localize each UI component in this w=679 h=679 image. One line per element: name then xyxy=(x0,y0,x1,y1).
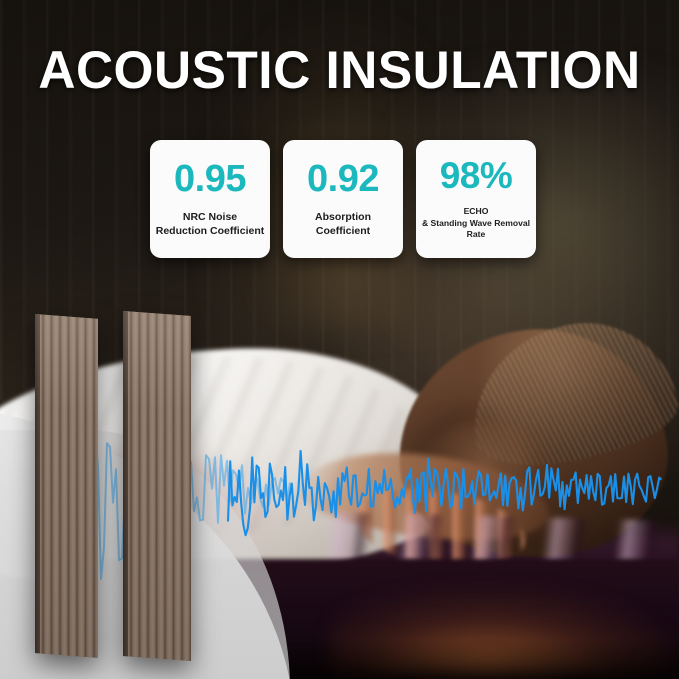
product-poster: ACOUSTIC INSULATION 0.95 NRC Noise Reduc… xyxy=(0,0,679,679)
panel-shading xyxy=(123,311,191,661)
acoustic-slat-panel-right xyxy=(123,311,191,661)
sound-wave-graphic xyxy=(0,360,679,620)
stat-label-absorption: Absorption Coefficient xyxy=(315,210,371,238)
panel-edge xyxy=(123,311,128,656)
stat-label-echo: ECHO & Standing Wave Removal Rate xyxy=(421,206,531,241)
acoustic-slat-panel-left xyxy=(35,314,98,658)
stat-value-absorption: 0.92 xyxy=(307,160,379,198)
panel-edge xyxy=(35,314,40,653)
stat-value-nrc: 0.95 xyxy=(174,160,246,198)
stat-card-nrc: 0.95 NRC Noise Reduction Coefficient xyxy=(150,140,270,258)
sound-wave-right xyxy=(228,451,661,535)
stat-card-absorption: 0.92 Absorption Coefficient xyxy=(283,140,403,258)
page-title: ACOUSTIC INSULATION xyxy=(10,43,669,99)
stat-card-row: 0.95 NRC Noise Reduction Coefficient 0.9… xyxy=(150,140,536,258)
stat-card-echo: 98% ECHO & Standing Wave Removal Rate xyxy=(416,140,536,258)
panel-shading xyxy=(35,314,98,658)
stat-value-echo: 98% xyxy=(440,157,513,194)
stat-label-nrc: NRC Noise Reduction Coefficient xyxy=(156,210,265,238)
